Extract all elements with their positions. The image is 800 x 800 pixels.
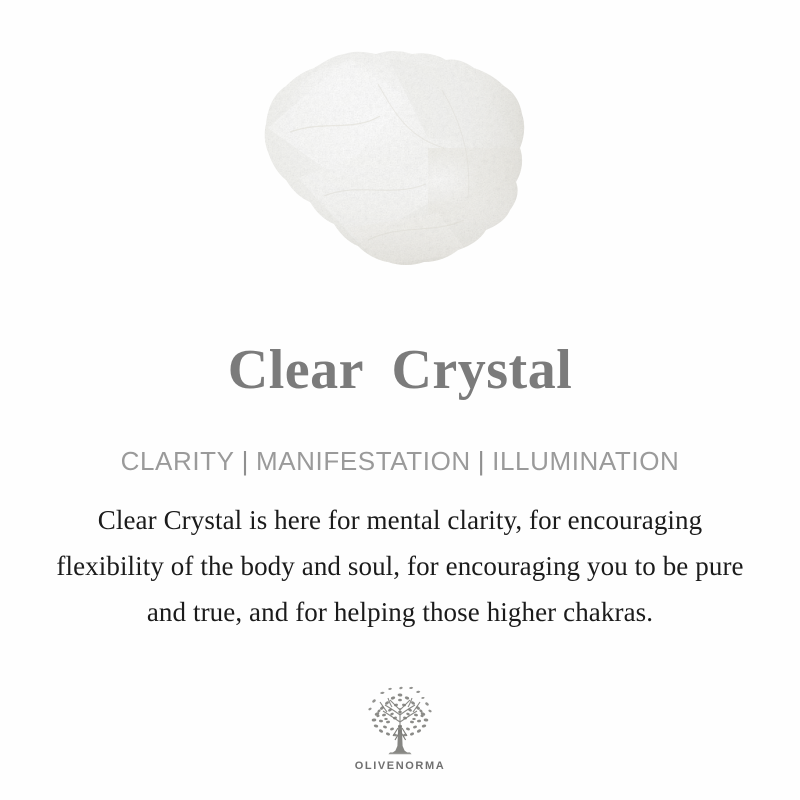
clear-crystal-info-card: Clear Crystal CLARITY|MANIFESTATION|ILLU…: [0, 0, 800, 800]
brand-logo: OLIVENORMA: [0, 684, 800, 772]
product-description: Clear Crystal is here for mental clarity…: [50, 497, 750, 635]
clear-crystal-photo: [228, 28, 548, 300]
keyword-manifestation: MANIFESTATION: [256, 444, 471, 478]
keyword-illumination: ILLUMINATION: [492, 444, 679, 478]
brand-name: OLIVENORMA: [355, 760, 446, 772]
keyword-list: CLARITY|MANIFESTATION|ILLUMINATION: [0, 444, 800, 478]
keyword-separator: |: [235, 444, 256, 478]
crystal-body: [228, 28, 548, 300]
keyword-clarity: CLARITY: [121, 444, 235, 478]
olive-tree-icon: [357, 684, 443, 758]
keyword-separator: |: [471, 444, 492, 478]
page-title: Clear Crystal: [0, 338, 800, 402]
product-image-area: [0, 0, 800, 320]
